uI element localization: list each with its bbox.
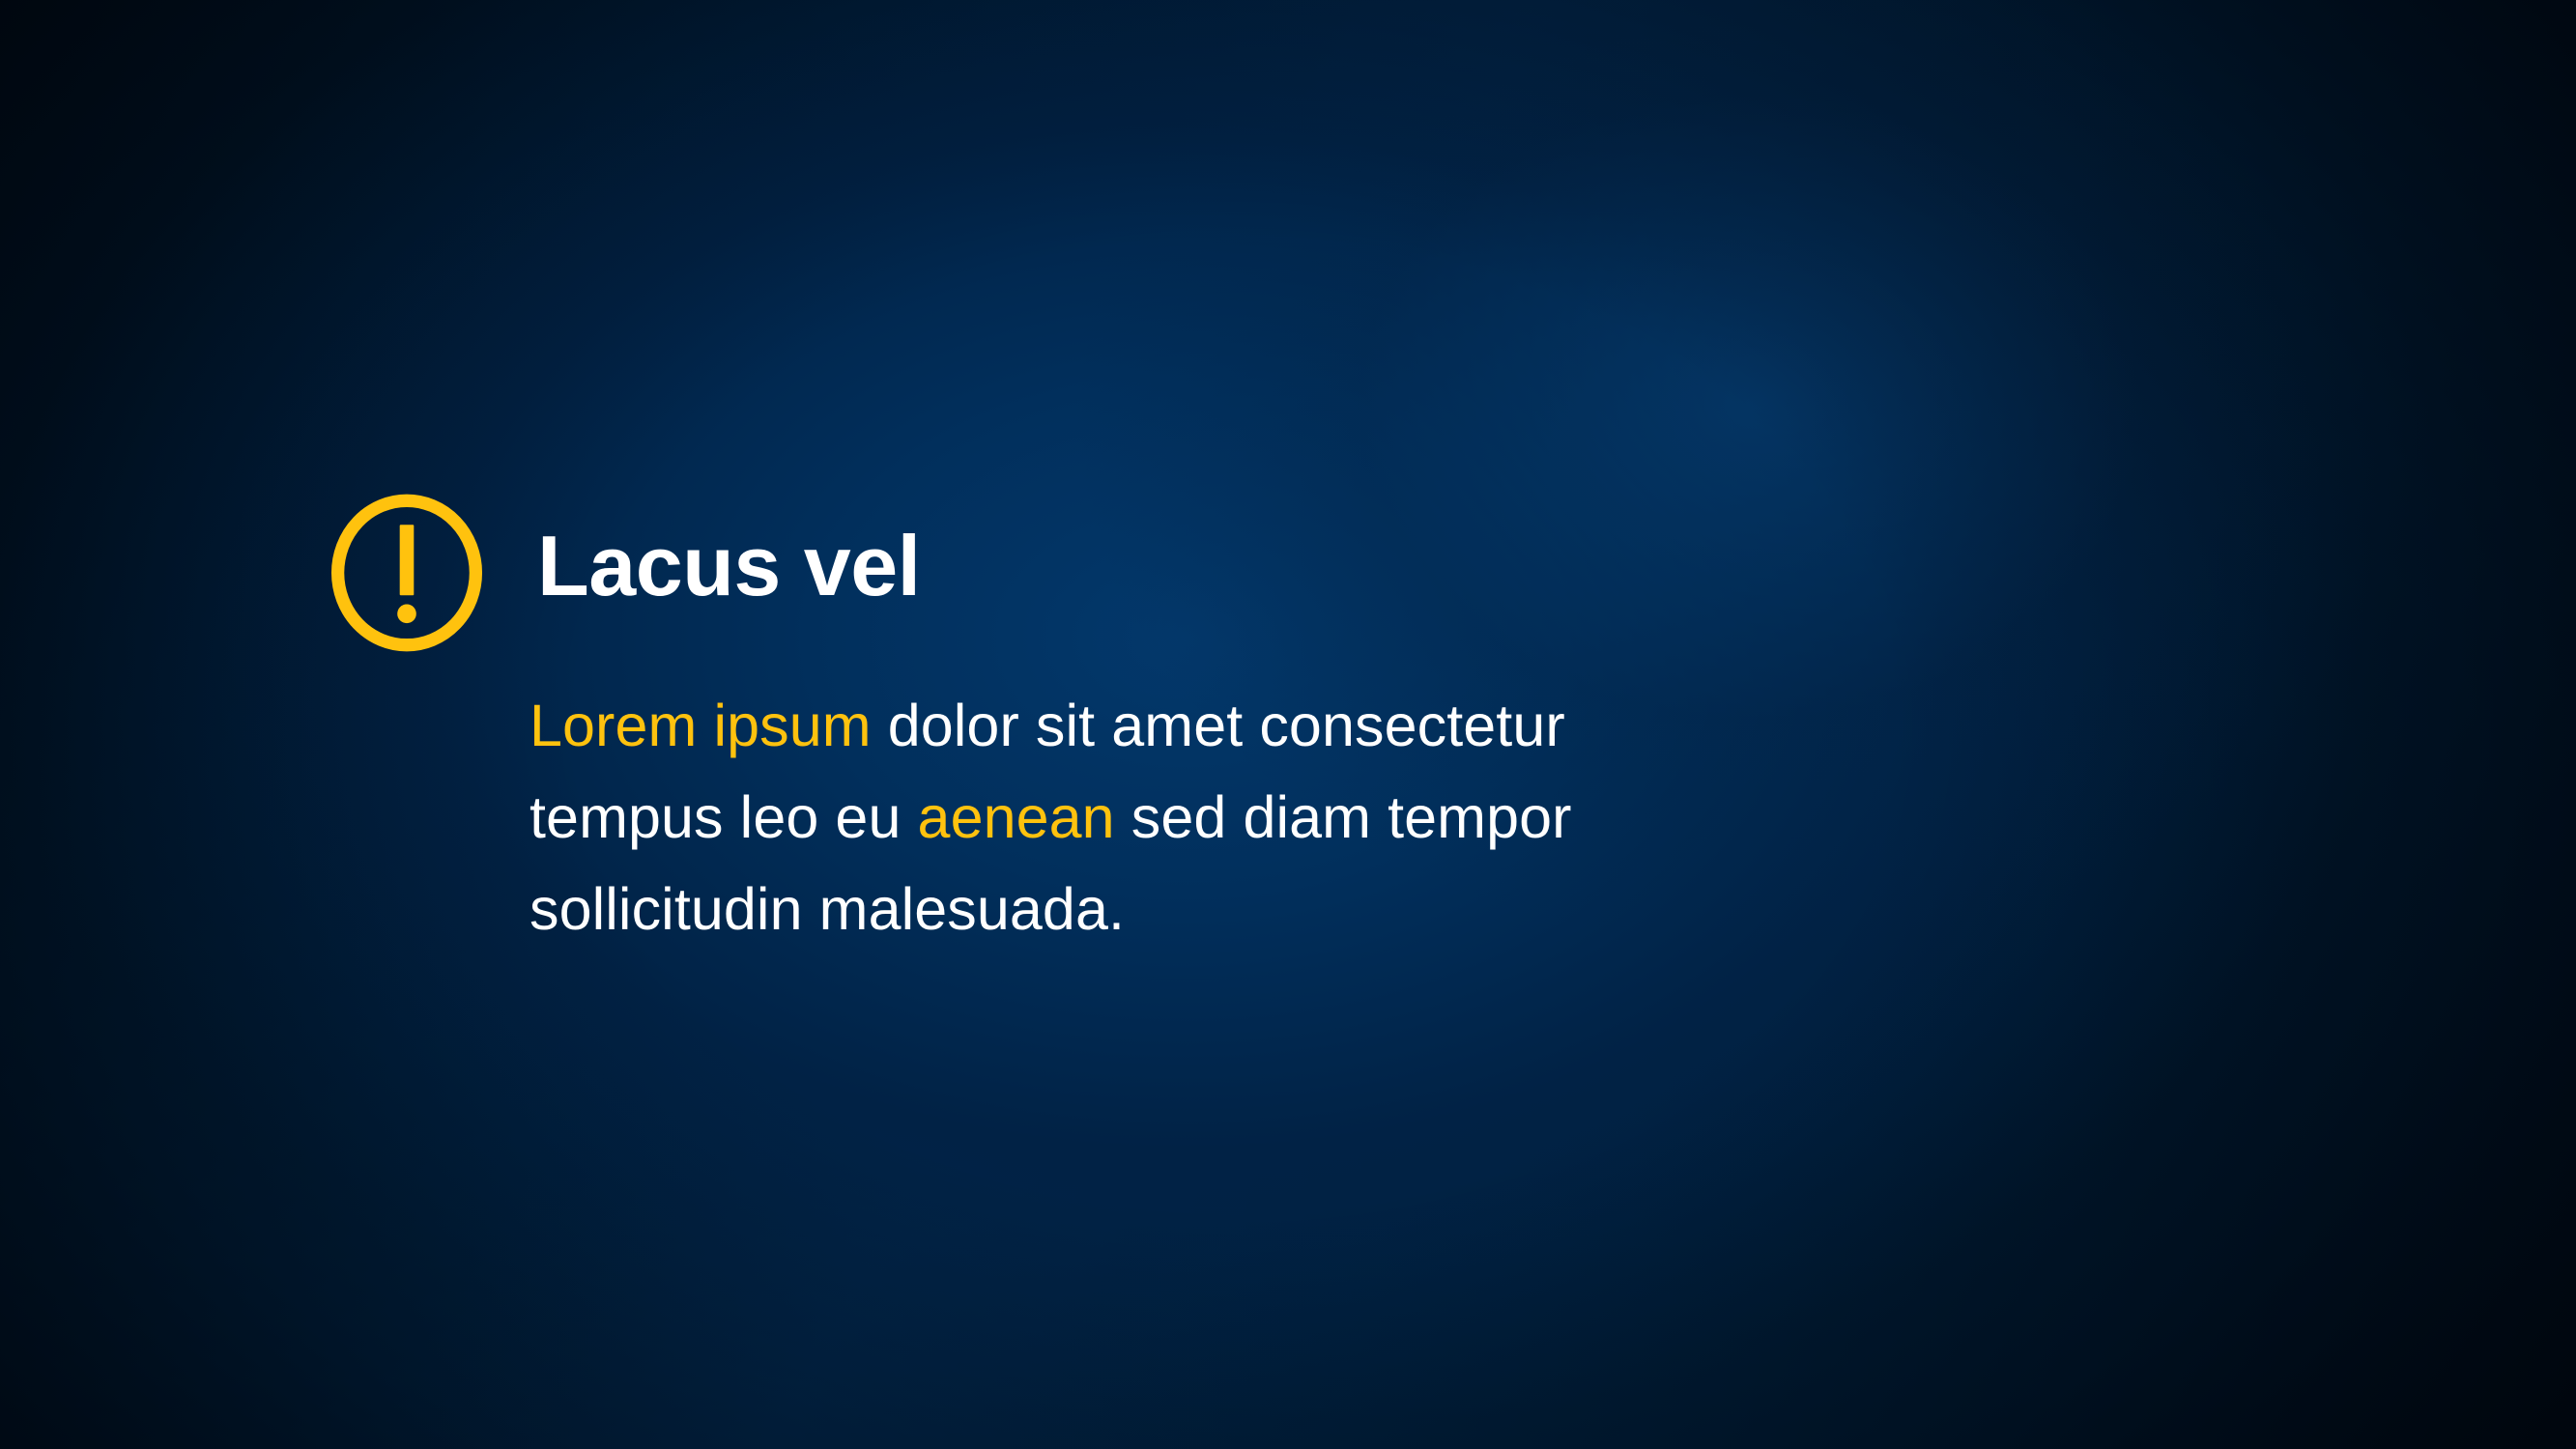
callout-body-text: Lorem ipsum dolor sit amet consectetur t… <box>327 680 1670 955</box>
alert-circle-exclamation-icon <box>327 489 487 657</box>
body-highlight-two: aenean <box>918 784 1115 850</box>
callout-block: Lacus vel Lorem ipsum dolor sit amet con… <box>327 483 1834 955</box>
body-highlight-one: Lorem ipsum <box>530 693 872 758</box>
page-title: Lacus vel <box>487 483 921 609</box>
slide-canvas: Lacus vel Lorem ipsum dolor sit amet con… <box>0 0 2576 1449</box>
headline-row: Lacus vel <box>327 483 1834 659</box>
